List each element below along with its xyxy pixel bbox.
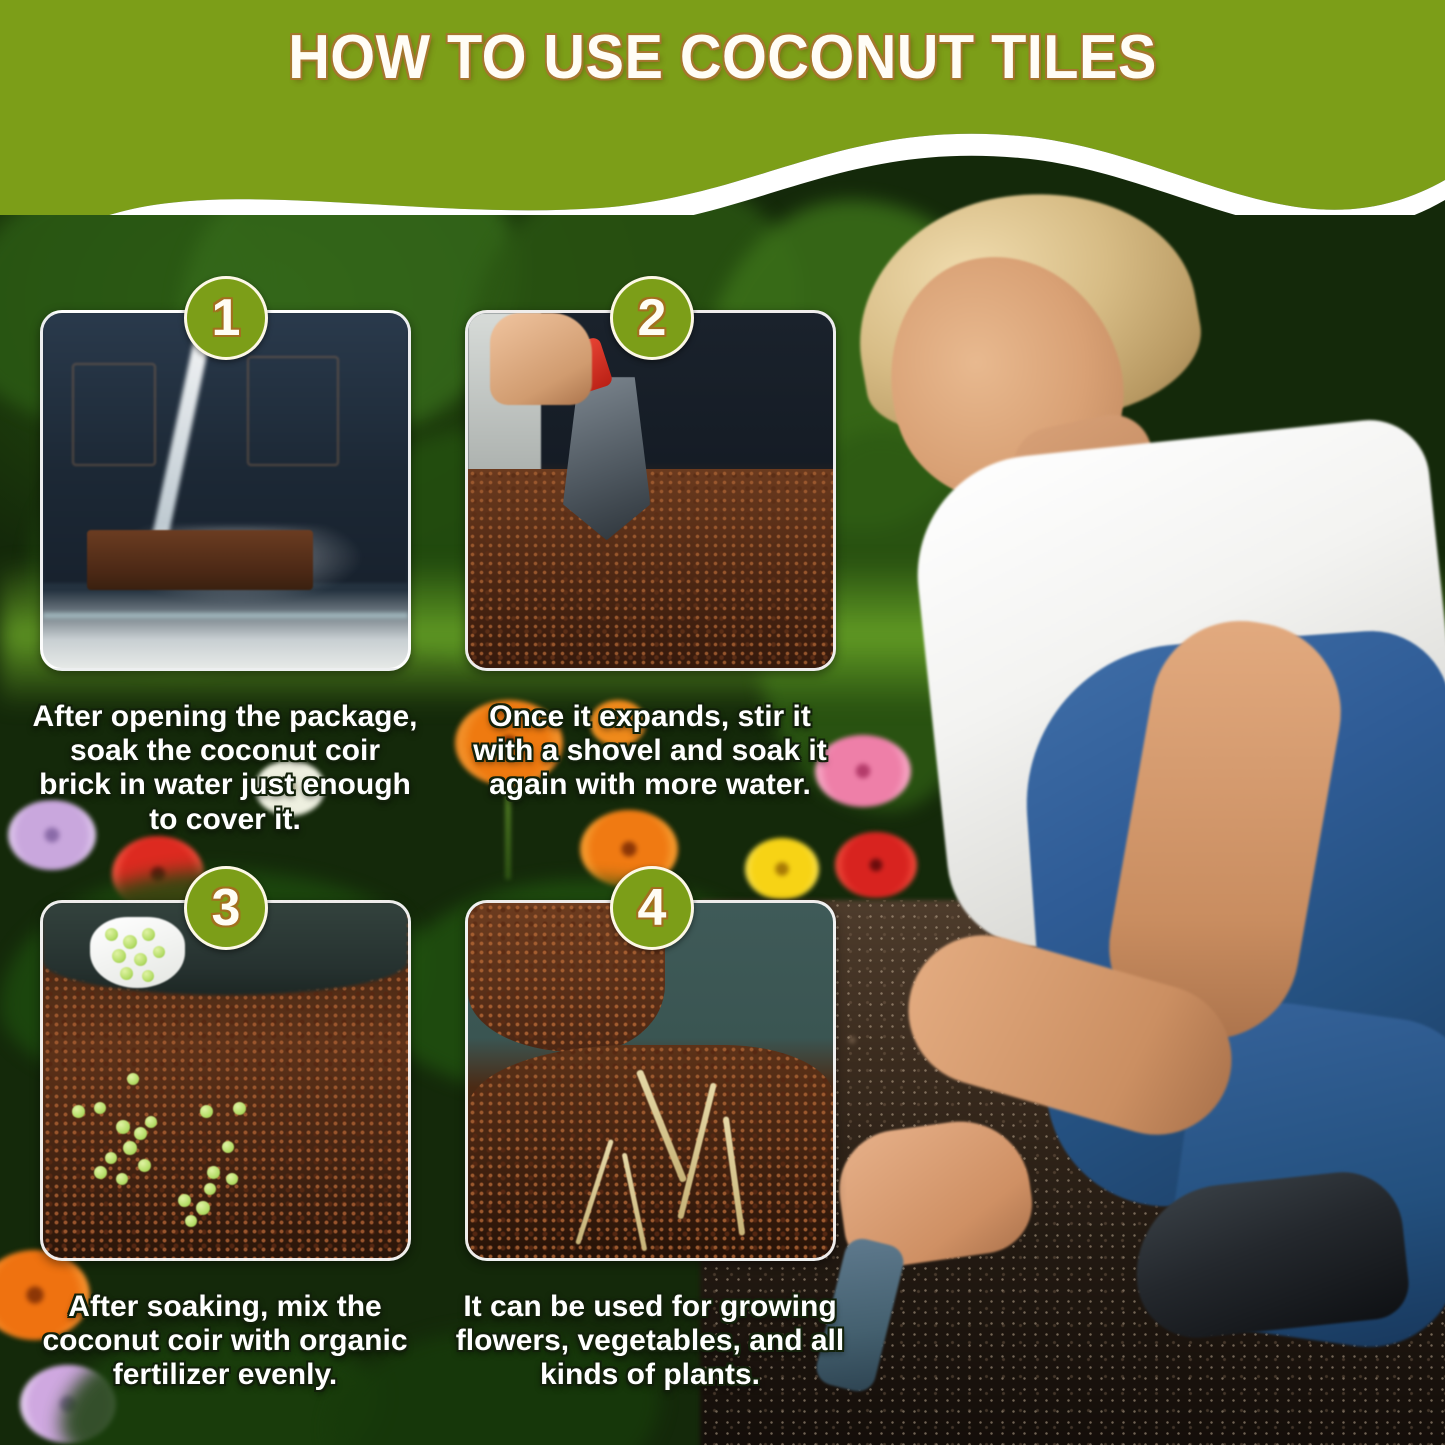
step-3-image[interactable] [40, 900, 411, 1261]
step-3-number: 3 [212, 882, 241, 934]
coir-brick [87, 530, 313, 590]
step-4-number: 4 [638, 882, 667, 934]
fertilizer-pellet [145, 1116, 157, 1128]
step-2-scene [468, 313, 833, 668]
tray-edge [43, 613, 408, 618]
fertilizer-pellet [123, 1141, 137, 1155]
denim-pocket [247, 356, 339, 467]
step-2-caption: Once it expands, stir it with a shovel a… [455, 700, 845, 803]
fertilizer-pellet [94, 1102, 106, 1114]
fertilizer-pellet [142, 928, 155, 941]
step-1-number-badge: 1 [184, 276, 268, 360]
fertilizer-pellet [196, 1201, 210, 1215]
flower-red [835, 832, 917, 898]
page-title: HOW TO USE COCONUT TILES [51, 22, 1395, 93]
fertilizer-pellet [134, 1127, 147, 1140]
fertilizer-pellet [222, 1141, 234, 1153]
fertilizer-pellet [185, 1215, 197, 1227]
step-3-number-badge: 3 [184, 866, 268, 950]
step-3-scene [43, 903, 408, 1258]
fertilizer-pellet [138, 1159, 151, 1172]
gripping-hand [490, 313, 592, 405]
fertilizer-pellet [116, 1173, 128, 1185]
step-1-number: 1 [212, 292, 241, 344]
step-4-number-badge: 4 [610, 866, 694, 950]
step-1-scene [43, 313, 408, 668]
step-2-image[interactable] [465, 310, 836, 671]
fertilizer-pellet [142, 970, 154, 982]
step-4-image[interactable] [465, 900, 836, 1261]
expanded-coir [468, 469, 833, 668]
fertilizer-pellet [233, 1102, 246, 1115]
fertilizer-pellet [127, 1073, 139, 1085]
step-4-scene [468, 903, 833, 1258]
fertilizer-pellet [116, 1120, 130, 1134]
step-3-caption: After soaking, mix the coconut coir with… [30, 1290, 420, 1393]
flower-yellow [745, 838, 819, 900]
fertilizer-pellet [94, 1166, 107, 1179]
fertilizer-pellet [207, 1166, 220, 1179]
fertilizer-pellet [105, 1152, 117, 1164]
infographic-canvas: HOW TO USE COCONUT TILES 1 After opening… [0, 0, 1445, 1445]
step-1-caption: After opening the package, soak the coco… [30, 700, 420, 837]
denim-pocket [72, 363, 156, 466]
fertilizer-pellet [204, 1183, 216, 1195]
step-2-number-badge: 2 [610, 276, 694, 360]
header-banner: HOW TO USE COCONUT TILES [0, 0, 1445, 215]
fertilizer-pellet [226, 1173, 238, 1185]
fertilizer-pellet [200, 1105, 213, 1118]
step-1-image[interactable] [40, 310, 411, 671]
step-2-number: 2 [638, 292, 667, 344]
step-4-caption: It can be used for growing flowers, vege… [455, 1290, 845, 1393]
fertilizer-pellet [72, 1105, 85, 1118]
fertilizer-pellet [120, 967, 133, 980]
fertilizer-pellet [178, 1194, 191, 1207]
fertilizer-pellet [105, 928, 118, 941]
fertilizer-pellet [153, 946, 165, 958]
coir-bed [468, 1045, 833, 1258]
fertilizer-pellet [134, 953, 147, 966]
